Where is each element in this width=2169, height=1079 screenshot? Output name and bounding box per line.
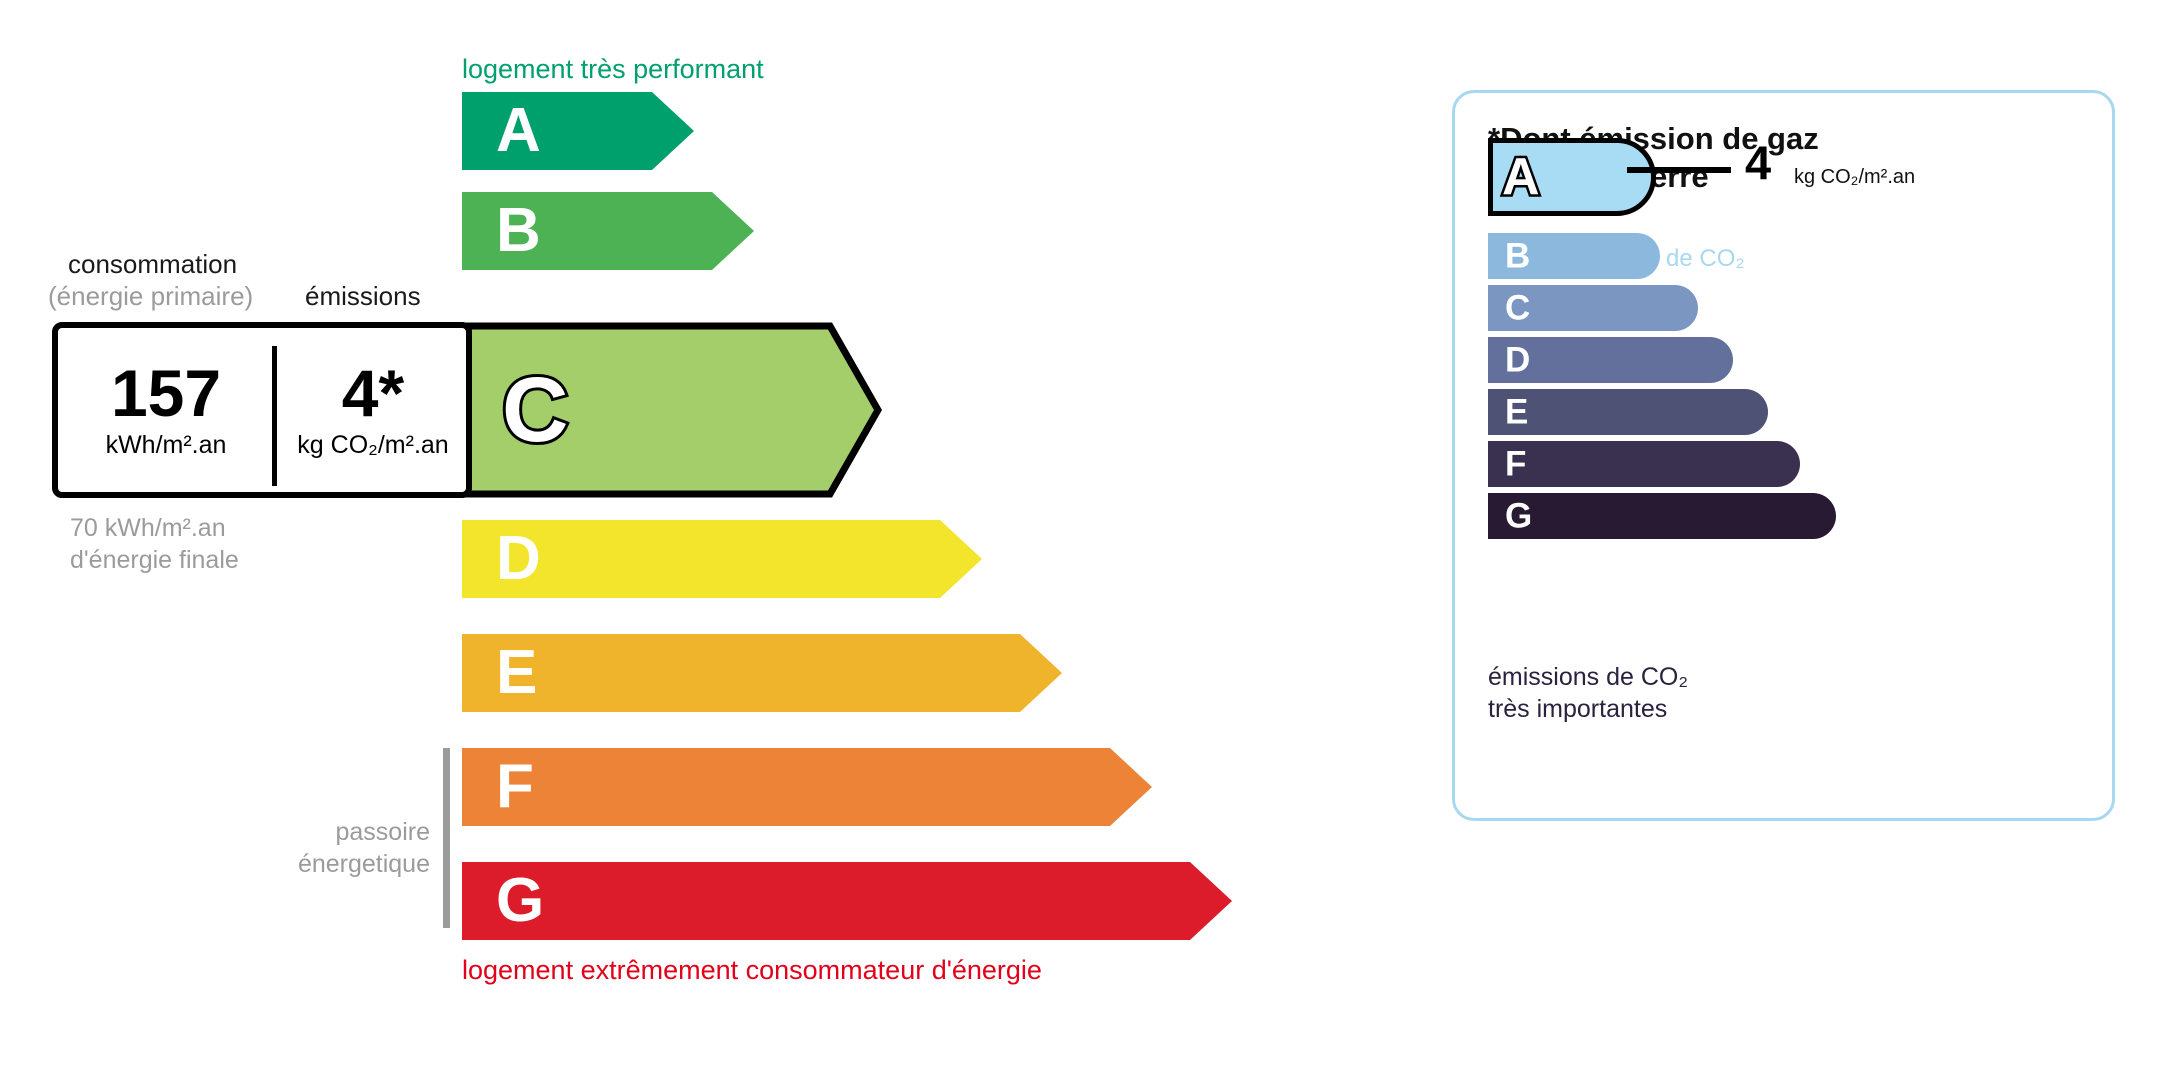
consumption-cell: 157 kWh/m².an — [58, 328, 274, 492]
final-energy-note: 70 kWh/m².an d'énergie finale — [70, 512, 239, 576]
consumption-value: 157 — [111, 360, 221, 426]
emission-cell: 4* kg CO₂/m².an — [274, 328, 472, 492]
co2-value-unit: kg CO₂/m².an — [1794, 166, 1915, 189]
co2-leader-line — [1627, 167, 1731, 173]
co2-bar-letter-b: B — [1505, 239, 1530, 274]
energy-band-a: A — [462, 92, 694, 170]
co2-bar-f: F — [1488, 441, 1800, 487]
co2-bar-letter-e: E — [1505, 395, 1528, 430]
consumption-caption: consommation — [68, 249, 237, 280]
co2-high-emissions-label: émissions de CO₂ très importantes — [1488, 661, 1688, 725]
passoire-label: passoire énergetique — [240, 816, 430, 880]
consumption-value-box: 157 kWh/m².an 4* kg CO₂/m².an — [52, 322, 472, 498]
worst-performance-label: logement extrêmement consommateur d'éner… — [462, 955, 1042, 986]
co2-bar-e: E — [1488, 389, 1768, 435]
co2-bar-g: G — [1488, 493, 1836, 539]
co2-bar-letter-d: D — [1505, 343, 1530, 378]
emissions-caption: émissions — [305, 281, 421, 312]
co2-bar-letter-f: F — [1505, 447, 1526, 482]
energy-band-g: G — [462, 862, 1232, 940]
co2-bar-letter-g: G — [1505, 499, 1532, 534]
energy-band-letter-b: B — [496, 200, 541, 262]
co2-emissions-panel: *Dont émission de gaz à effet de serre p… — [1452, 90, 2115, 821]
energy-band-f: F — [462, 748, 1152, 826]
energy-band-letter-c: C — [502, 364, 568, 456]
co2-bar-fill-e — [1488, 389, 1768, 435]
consumption-unit: kWh/m².an — [106, 432, 227, 460]
passoire-line-1: passoire — [240, 816, 430, 848]
co2-bottom-line-1: émissions de CO₂ — [1488, 661, 1688, 693]
best-performance-label: logement très performant — [462, 54, 764, 85]
dpe-energy-label: logement très performant ABCDEFG 157 kWh… — [0, 0, 2169, 1079]
co2-bar-a: A — [1488, 138, 1656, 216]
energy-band-letter-g: G — [496, 870, 544, 932]
co2-bottom-line-2: très importantes — [1488, 693, 1688, 725]
co2-bar-fill-g — [1488, 493, 1836, 539]
energy-band-letter-a: A — [496, 100, 541, 162]
energy-band-d: D — [462, 520, 982, 598]
co2-bar-letter-c: C — [1505, 291, 1530, 326]
energy-consumption-panel: logement très performant ABCDEFG 157 kWh… — [0, 0, 1400, 1079]
final-energy-line-1: 70 kWh/m².an — [70, 512, 239, 544]
emission-unit: kg CO₂/m².an — [297, 432, 448, 460]
energy-band-letter-d: D — [496, 528, 541, 590]
co2-bar-letter-a: A — [1502, 151, 1540, 203]
energy-band-letter-e: E — [496, 642, 537, 704]
primary-energy-caption: (énergie primaire) — [48, 281, 253, 312]
energy-band-b: B — [462, 192, 754, 270]
final-energy-line-2: d'énergie finale — [70, 544, 239, 576]
co2-value: 4 — [1745, 139, 1771, 186]
co2-bar-fill-f — [1488, 441, 1800, 487]
energy-band-letter-f: F — [496, 756, 534, 818]
emission-value: 4* — [342, 360, 404, 426]
energy-band-c: C — [462, 322, 882, 498]
passoire-bracket — [443, 748, 450, 928]
co2-bar-c: C — [1488, 285, 1698, 331]
passoire-line-2: énergetique — [240, 848, 430, 880]
energy-band-e: E — [462, 634, 1062, 712]
co2-bar-b: B — [1488, 233, 1660, 279]
co2-bar-d: D — [1488, 337, 1733, 383]
